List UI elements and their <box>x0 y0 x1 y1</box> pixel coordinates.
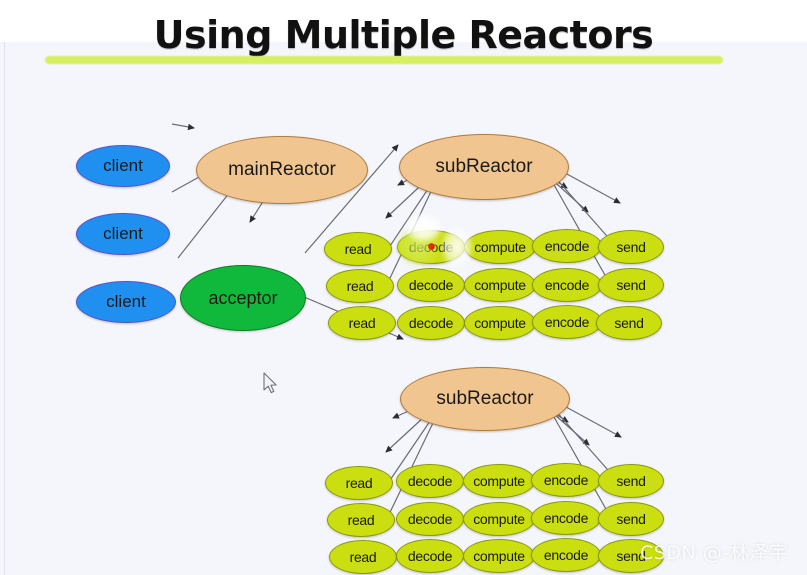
node-client-2[interactable]: client <box>76 213 170 255</box>
node-main-reactor[interactable]: mainReactor <box>196 136 368 204</box>
node-task-send[interactable]: send <box>598 230 664 264</box>
node-label: decode <box>408 473 452 489</box>
node-label: read <box>348 512 375 528</box>
node-task-compute[interactable]: compute <box>463 502 535 536</box>
node-task-send[interactable]: send <box>598 268 664 302</box>
node-label: encode <box>545 277 589 293</box>
node-label: decode <box>409 239 453 255</box>
node-label: send <box>616 277 645 293</box>
node-sub-reactor-2[interactable]: subReactor <box>400 367 570 431</box>
slide-left-rule <box>4 42 5 575</box>
node-label: decode <box>409 277 453 293</box>
node-label: compute <box>474 277 526 293</box>
node-label: read <box>346 475 373 491</box>
title-underline-bar <box>45 56 723 64</box>
node-label: acceptor <box>208 288 277 309</box>
node-label: encode <box>544 510 588 526</box>
node-task-compute[interactable]: compute <box>464 230 536 264</box>
node-task-read[interactable]: read <box>328 306 396 340</box>
node-label: mainReactor <box>228 159 336 181</box>
node-task-send[interactable]: send <box>598 502 664 536</box>
node-task-decode[interactable]: decode <box>396 464 464 498</box>
node-label: send <box>614 315 643 331</box>
node-task-decode[interactable]: decode <box>397 306 465 340</box>
node-task-read[interactable]: read <box>326 269 394 303</box>
node-label: read <box>345 241 372 257</box>
node-label: compute <box>473 548 525 564</box>
node-task-send[interactable]: send <box>598 464 664 498</box>
node-label: subReactor <box>435 156 532 178</box>
node-sub-reactor-1[interactable]: subReactor <box>399 134 569 200</box>
node-task-decode[interactable]: decode <box>397 230 465 264</box>
node-task-read[interactable]: read <box>327 503 395 537</box>
page-title: Using Multiple Reactors <box>0 13 807 57</box>
node-label: send <box>616 511 645 527</box>
node-label: encode <box>544 472 588 488</box>
node-task-read[interactable]: read <box>324 232 392 266</box>
node-label: client <box>103 224 143 244</box>
node-label: client <box>106 292 146 312</box>
node-label: subReactor <box>436 388 533 410</box>
node-label: decode <box>408 511 452 527</box>
node-label: send <box>616 239 645 255</box>
node-label: read <box>349 315 376 331</box>
node-task-compute[interactable]: compute <box>463 464 535 498</box>
node-task-send[interactable]: send <box>596 306 662 340</box>
node-label: decode <box>408 548 452 564</box>
node-client-3[interactable]: client <box>76 281 176 323</box>
node-task-compute[interactable]: compute <box>464 268 536 302</box>
node-label: decode <box>409 315 453 331</box>
node-task-read[interactable]: read <box>325 466 393 500</box>
node-client-1[interactable]: client <box>76 145 170 187</box>
node-task-compute[interactable]: compute <box>463 539 535 573</box>
node-acceptor[interactable]: acceptor <box>180 265 306 331</box>
node-label: send <box>616 473 645 489</box>
node-label: compute <box>474 239 526 255</box>
video-frame: Using Multiple Reactors <box>0 0 807 575</box>
node-task-encode[interactable]: encode <box>531 538 601 572</box>
node-label: read <box>350 549 377 565</box>
node-task-encode[interactable]: encode <box>532 305 602 339</box>
node-task-decode[interactable]: decode <box>397 268 465 302</box>
node-task-read[interactable]: read <box>329 540 397 574</box>
node-label: encode <box>545 314 589 330</box>
node-task-compute[interactable]: compute <box>464 306 536 340</box>
node-label: encode <box>544 547 588 563</box>
node-label: compute <box>473 473 525 489</box>
node-task-encode[interactable]: encode <box>531 501 601 535</box>
node-task-encode[interactable]: encode <box>531 463 601 497</box>
node-label: read <box>347 278 374 294</box>
csdn-watermark: CSDN @-林泽宇 <box>640 538 788 565</box>
node-task-decode[interactable]: decode <box>396 539 464 573</box>
node-task-encode[interactable]: encode <box>532 268 602 302</box>
node-task-decode[interactable]: decode <box>396 502 464 536</box>
node-label: client <box>103 156 143 176</box>
node-label: compute <box>473 511 525 527</box>
node-task-encode[interactable]: encode <box>532 229 602 263</box>
node-label: encode <box>545 238 589 254</box>
node-label: compute <box>474 315 526 331</box>
